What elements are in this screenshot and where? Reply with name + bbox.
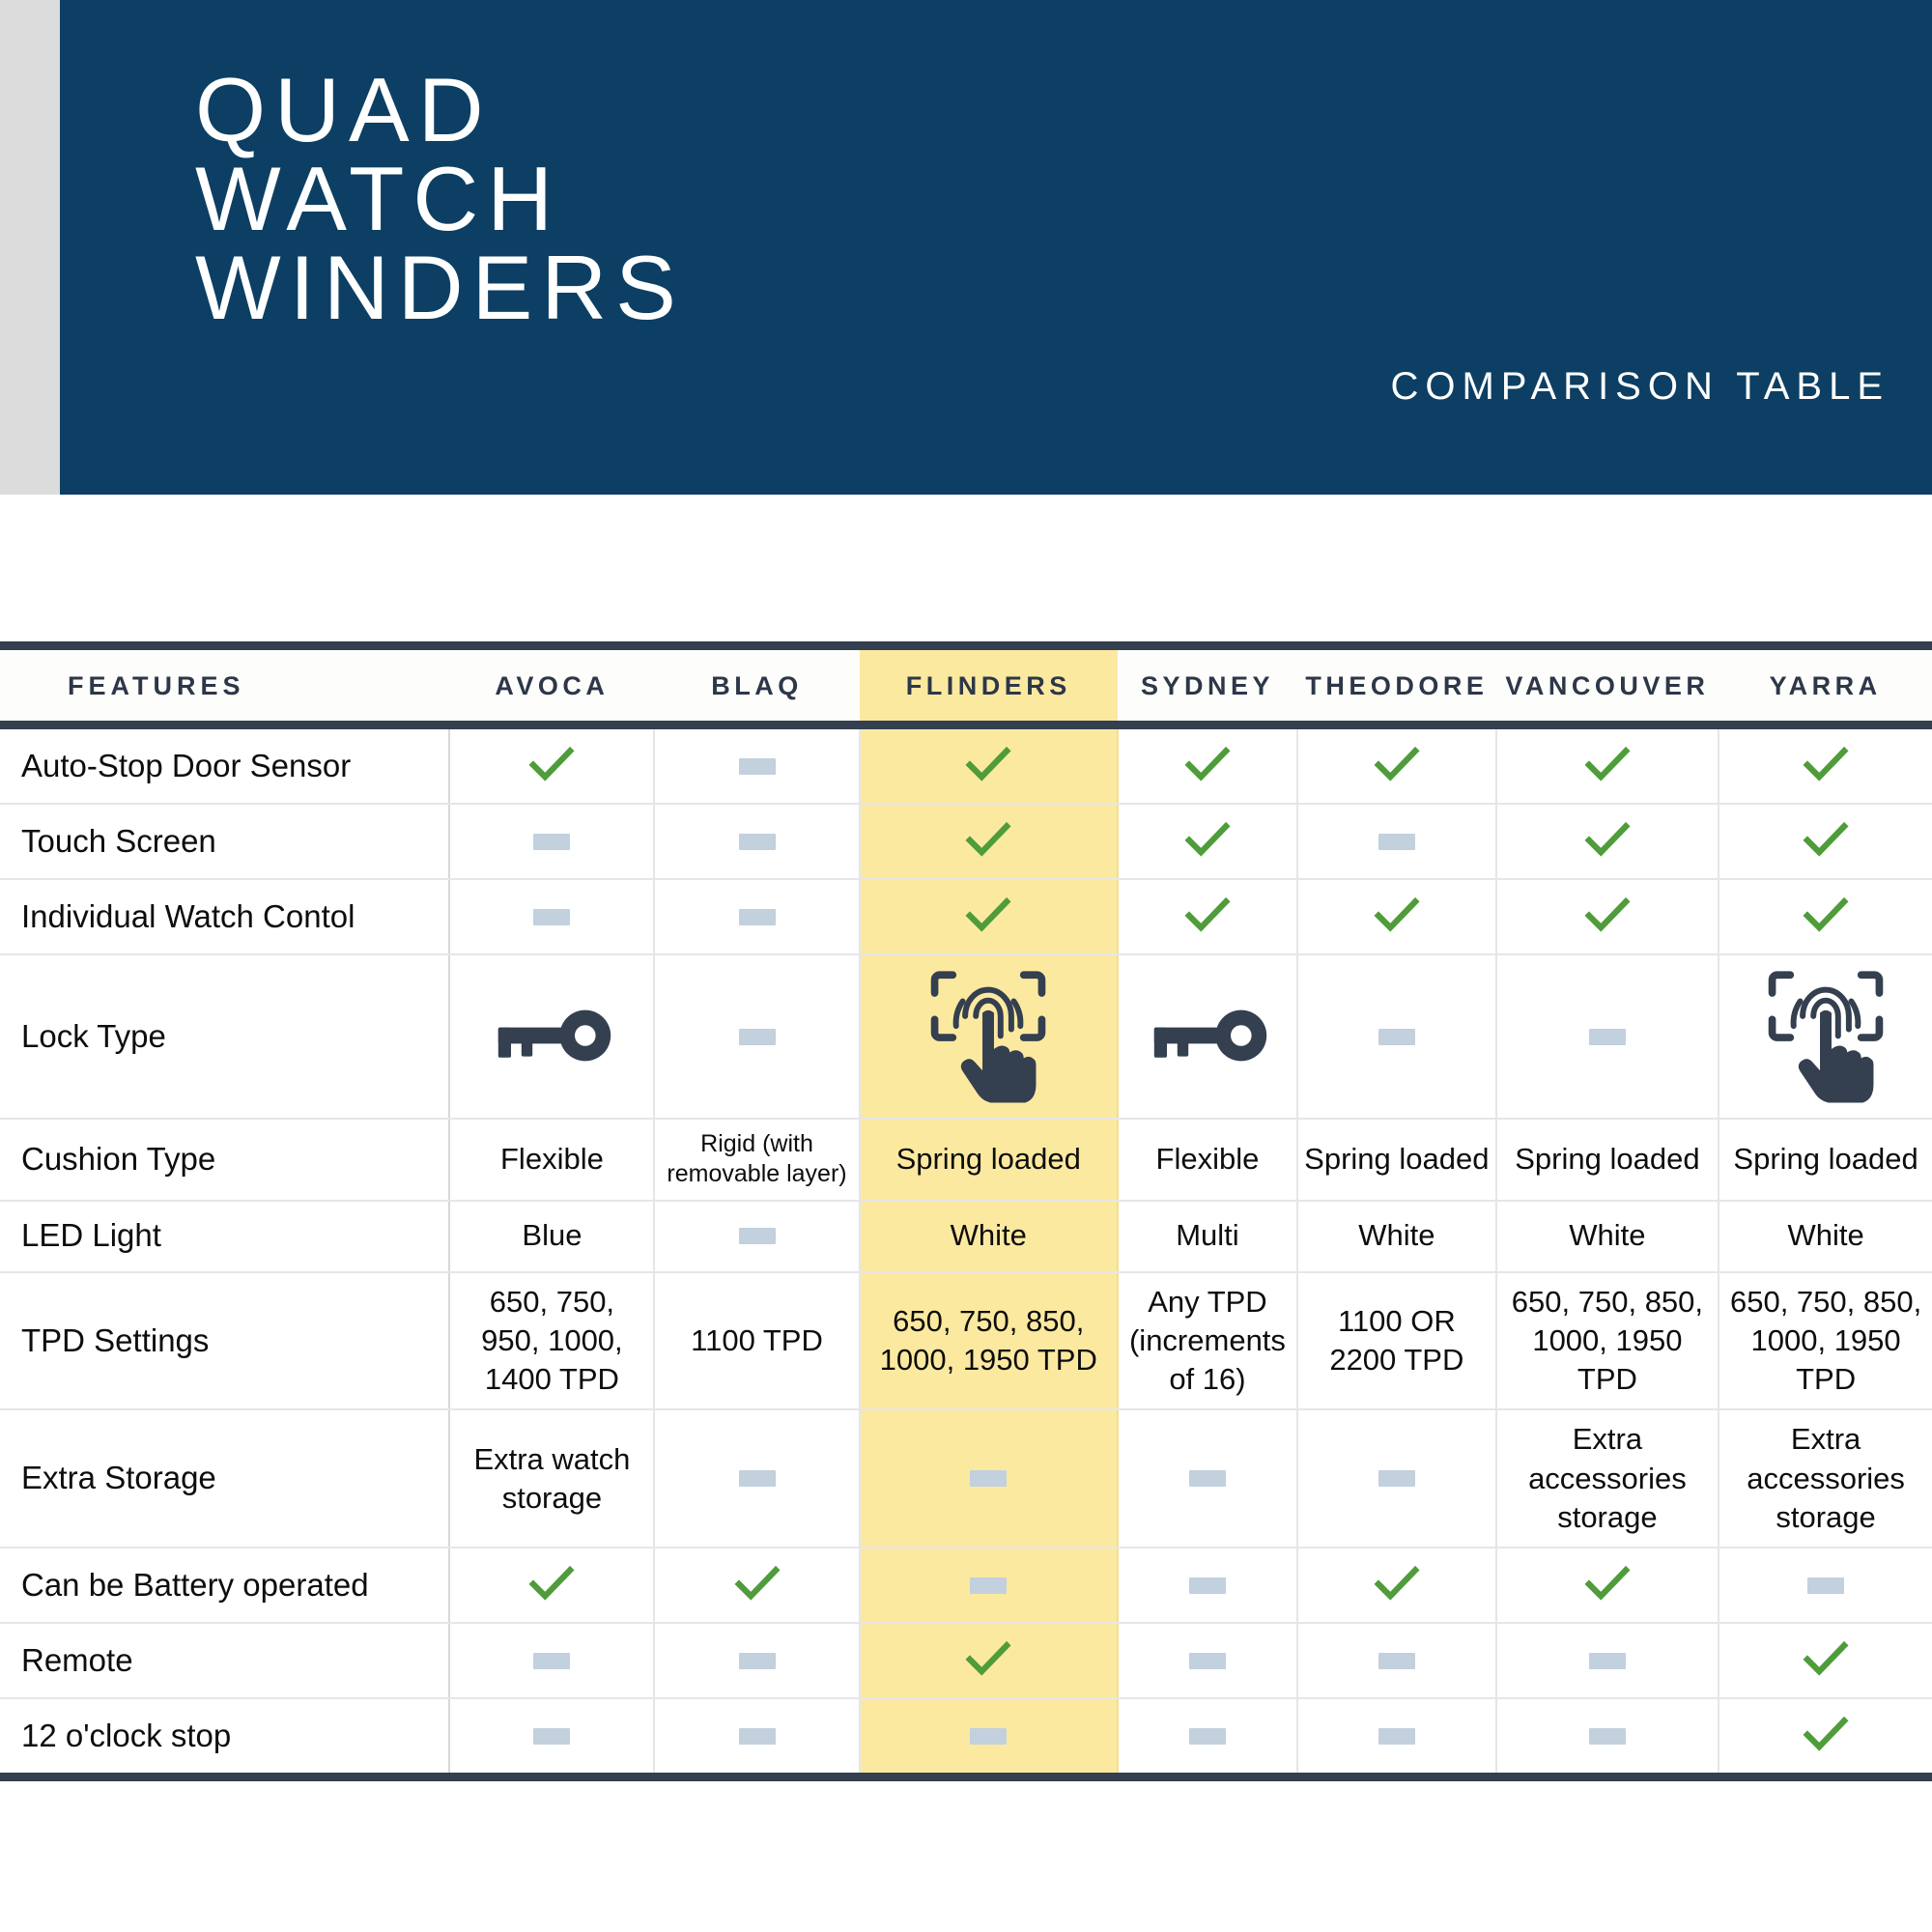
- comparison-table-wrap: FEATURES AVOCA BLAQ FLINDERS SYDNEY THEO…: [0, 641, 1932, 1773]
- cell-remote-vancouver[interactable]: [1496, 1623, 1719, 1698]
- column-header-vancouver[interactable]: VANCOUVER: [1496, 646, 1719, 725]
- cell-led-light-vancouver[interactable]: White: [1496, 1201, 1719, 1272]
- not-available-dash-icon: [1189, 1653, 1226, 1669]
- cell-can-be-battery-operated-sydney[interactable]: [1118, 1548, 1297, 1623]
- cell-text: White: [1358, 1218, 1435, 1252]
- cell-text: 650, 750, 850, 1000, 1950 TPD: [1512, 1285, 1703, 1397]
- fingerprint-scanner-icon: [1762, 965, 1889, 1108]
- cell-lock-type-yarra[interactable]: [1719, 954, 1932, 1119]
- feature-label-tpd-settings: TPD Settings: [0, 1272, 449, 1410]
- column-header-avoca[interactable]: AVOCA: [449, 646, 654, 725]
- check-icon: [961, 814, 1015, 868]
- fingerprint-scanner-icon: [924, 965, 1052, 1108]
- table-row: Can be Battery operated: [0, 1548, 1932, 1623]
- column-header-flinders[interactable]: FLINDERS: [860, 646, 1118, 725]
- cell-cushion-type-yarra[interactable]: Spring loaded: [1719, 1119, 1932, 1201]
- not-available-dash-icon: [533, 909, 570, 925]
- cell-extra-storage-blaq[interactable]: [654, 1409, 859, 1548]
- cell-led-light-flinders[interactable]: White: [860, 1201, 1118, 1272]
- check-icon: [1370, 739, 1424, 793]
- cell-remote-blaq[interactable]: [654, 1623, 859, 1698]
- table-row: Remote: [0, 1623, 1932, 1698]
- feature-label-touch-screen: Touch Screen: [0, 804, 449, 879]
- check-icon: [1799, 890, 1853, 944]
- table-row: 12 o'clock stop: [0, 1698, 1932, 1773]
- cell-touch-screen-yarra[interactable]: [1719, 804, 1932, 879]
- cell-touch-screen-flinders[interactable]: [860, 804, 1118, 879]
- cell-text: Spring loaded: [1515, 1142, 1699, 1176]
- cell-tpd-settings-theodore[interactable]: 1100 OR 2200 TPD: [1297, 1272, 1496, 1410]
- column-header-theodore[interactable]: THEODORE: [1297, 646, 1496, 725]
- feature-label-individual-watch-contol: Individual Watch Contol: [0, 879, 449, 954]
- feature-label-can-be-battery-operated: Can be Battery operated: [0, 1548, 449, 1623]
- check-icon: [1180, 814, 1235, 868]
- not-available-dash-icon: [739, 1728, 776, 1745]
- not-available-dash-icon: [1189, 1470, 1226, 1487]
- table-row: TPD Settings650, 750, 950, 1000, 1400 TP…: [0, 1272, 1932, 1410]
- not-available-dash-icon: [739, 834, 776, 850]
- table-head: FEATURES AVOCA BLAQ FLINDERS SYDNEY THEO…: [0, 646, 1932, 725]
- cell-lock-type-avoca[interactable]: [449, 954, 654, 1119]
- cell-text: Extra accessories storage: [1747, 1422, 1905, 1534]
- not-available-dash-icon: [739, 1470, 776, 1487]
- cell-text: Any TPD (increments of 16): [1129, 1285, 1286, 1397]
- cell-individual-watch-contol-theodore[interactable]: [1297, 879, 1496, 954]
- cell-cushion-type-vancouver[interactable]: Spring loaded: [1496, 1119, 1719, 1201]
- cell-can-be-battery-operated-flinders[interactable]: [860, 1548, 1118, 1623]
- check-icon: [1370, 1558, 1424, 1612]
- cell-lock-type-blaq[interactable]: [654, 954, 859, 1119]
- cell-led-light-blaq[interactable]: [654, 1201, 859, 1272]
- table-body: Auto-Stop Door SensorTouch ScreenIndivid…: [0, 725, 1932, 1774]
- not-available-dash-icon: [1589, 1029, 1626, 1045]
- cell-text: Spring loaded: [1304, 1142, 1489, 1176]
- comparison-page: QUAD WATCH WINDERS COMPARISON TABLE FEAT…: [0, 0, 1932, 1932]
- column-header-yarra[interactable]: YARRA: [1719, 646, 1932, 725]
- cell-auto-stop-door-sensor-blaq[interactable]: [654, 725, 859, 805]
- cell-lock-type-flinders[interactable]: [860, 954, 1118, 1119]
- cell-text: Multi: [1176, 1218, 1238, 1252]
- check-icon: [730, 1558, 784, 1612]
- table-row: LED LightBlueWhiteMultiWhiteWhiteWhite: [0, 1201, 1932, 1272]
- cell-can-be-battery-operated-yarra[interactable]: [1719, 1548, 1932, 1623]
- not-available-dash-icon: [739, 1228, 776, 1244]
- cell-auto-stop-door-sensor-theodore[interactable]: [1297, 725, 1496, 805]
- cell-lock-type-theodore[interactable]: [1297, 954, 1496, 1119]
- cell-remote-sydney[interactable]: [1118, 1623, 1297, 1698]
- comparison-table: FEATURES AVOCA BLAQ FLINDERS SYDNEY THEO…: [0, 641, 1932, 1773]
- feature-label-remote: Remote: [0, 1623, 449, 1698]
- cell-tpd-settings-blaq[interactable]: 1100 TPD: [654, 1272, 859, 1410]
- not-available-dash-icon: [1378, 1728, 1415, 1745]
- check-icon: [1580, 890, 1634, 944]
- check-icon: [525, 1558, 579, 1612]
- not-available-dash-icon: [970, 1728, 1007, 1745]
- check-icon: [1799, 1709, 1853, 1763]
- cell-text: White: [951, 1218, 1027, 1252]
- cell-individual-watch-contol-flinders[interactable]: [860, 879, 1118, 954]
- cell-cushion-type-avoca[interactable]: Flexible: [449, 1119, 654, 1201]
- check-icon: [961, 1634, 1015, 1688]
- cell-lock-type-sydney[interactable]: [1118, 954, 1297, 1119]
- cell-can-be-battery-operated-theodore[interactable]: [1297, 1548, 1496, 1623]
- check-icon: [1580, 739, 1634, 793]
- not-available-dash-icon: [970, 1470, 1007, 1487]
- cell-touch-screen-blaq[interactable]: [654, 804, 859, 879]
- cell-individual-watch-contol-avoca[interactable]: [449, 879, 654, 954]
- cell-touch-screen-avoca[interactable]: [449, 804, 654, 879]
- not-available-dash-icon: [739, 909, 776, 925]
- cell-remote-flinders[interactable]: [860, 1623, 1118, 1698]
- cell-can-be-battery-operated-vancouver[interactable]: [1496, 1548, 1719, 1623]
- cell-text: Extra accessories storage: [1528, 1422, 1687, 1534]
- table-row: Touch Screen: [0, 804, 1932, 879]
- cell-12-o-clock-stop-flinders[interactable]: [860, 1698, 1118, 1773]
- cell-text: 650, 750, 850, 1000, 1950 TPD: [880, 1304, 1097, 1377]
- check-icon: [961, 890, 1015, 944]
- cell-text: Spring loaded: [1733, 1142, 1918, 1176]
- feature-label-lock-type: Lock Type: [0, 954, 449, 1119]
- cell-cushion-type-theodore[interactable]: Spring loaded: [1297, 1119, 1496, 1201]
- page-title: QUAD WATCH WINDERS: [195, 66, 685, 332]
- cell-text: 1100 TPD: [691, 1323, 823, 1357]
- feature-label-auto-stop-door-sensor: Auto-Stop Door Sensor: [0, 725, 449, 805]
- column-header-sydney[interactable]: SYDNEY: [1118, 646, 1297, 725]
- cell-12-o-clock-stop-sydney[interactable]: [1118, 1698, 1297, 1773]
- not-available-dash-icon: [533, 1728, 570, 1745]
- check-icon: [1180, 739, 1235, 793]
- cell-cushion-type-sydney[interactable]: Flexible: [1118, 1119, 1297, 1201]
- not-available-dash-icon: [1589, 1653, 1626, 1669]
- cell-text: Rigid (with removable layer): [667, 1130, 846, 1187]
- not-available-dash-icon: [1378, 1653, 1415, 1669]
- check-icon: [961, 739, 1015, 793]
- cell-text: Flexible: [1156, 1142, 1260, 1176]
- cell-extra-storage-flinders[interactable]: [860, 1409, 1118, 1548]
- cell-can-be-battery-operated-avoca[interactable]: [449, 1548, 654, 1623]
- cell-auto-stop-door-sensor-avoca[interactable]: [449, 725, 654, 805]
- cell-tpd-settings-avoca[interactable]: 650, 750, 950, 1000, 1400 TPD: [449, 1272, 654, 1410]
- table-row: Cushion TypeFlexibleRigid (with removabl…: [0, 1119, 1932, 1201]
- cell-individual-watch-contol-sydney[interactable]: [1118, 879, 1297, 954]
- cell-extra-storage-sydney[interactable]: [1118, 1409, 1297, 1548]
- check-icon: [1580, 814, 1634, 868]
- cell-extra-storage-yarra[interactable]: Extra accessories storage: [1719, 1409, 1932, 1548]
- table-row: Lock Type: [0, 954, 1932, 1119]
- not-available-dash-icon: [739, 1653, 776, 1669]
- cell-remote-theodore[interactable]: [1297, 1623, 1496, 1698]
- cell-text: Flexible: [500, 1142, 604, 1176]
- cell-led-light-sydney[interactable]: Multi: [1118, 1201, 1297, 1272]
- column-header-blaq[interactable]: BLAQ: [654, 646, 859, 725]
- cell-extra-storage-vancouver[interactable]: Extra accessories storage: [1496, 1409, 1719, 1548]
- cell-text: 1100 OR 2200 TPD: [1329, 1304, 1463, 1377]
- cell-12-o-clock-stop-avoca[interactable]: [449, 1698, 654, 1773]
- cell-touch-screen-theodore[interactable]: [1297, 804, 1496, 879]
- cell-led-light-theodore[interactable]: White: [1297, 1201, 1496, 1272]
- cell-led-light-yarra[interactable]: White: [1719, 1201, 1932, 1272]
- cell-tpd-settings-flinders[interactable]: 650, 750, 850, 1000, 1950 TPD: [860, 1272, 1118, 1410]
- cell-individual-watch-contol-yarra[interactable]: [1719, 879, 1932, 954]
- cell-cushion-type-flinders[interactable]: Spring loaded: [860, 1119, 1118, 1201]
- cell-can-be-battery-operated-blaq[interactable]: [654, 1548, 859, 1623]
- check-icon: [1180, 890, 1235, 944]
- cell-auto-stop-door-sensor-yarra[interactable]: [1719, 725, 1932, 805]
- check-icon: [1799, 814, 1853, 868]
- cell-remote-yarra[interactable]: [1719, 1623, 1932, 1698]
- cell-extra-storage-theodore[interactable]: [1297, 1409, 1496, 1548]
- feature-label-extra-storage: Extra Storage: [0, 1409, 449, 1548]
- cell-12-o-clock-stop-blaq[interactable]: [654, 1698, 859, 1773]
- cell-led-light-avoca[interactable]: Blue: [449, 1201, 654, 1272]
- cell-auto-stop-door-sensor-sydney[interactable]: [1118, 725, 1297, 805]
- cell-lock-type-vancouver[interactable]: [1496, 954, 1719, 1119]
- cell-text: White: [1569, 1218, 1645, 1252]
- not-available-dash-icon: [970, 1577, 1007, 1594]
- check-icon: [1799, 739, 1853, 793]
- table-bottom-rule: [0, 1773, 1932, 1781]
- cell-12-o-clock-stop-theodore[interactable]: [1297, 1698, 1496, 1773]
- cell-12-o-clock-stop-vancouver[interactable]: [1496, 1698, 1719, 1773]
- key-icon: [488, 1007, 615, 1066]
- cell-text: 650, 750, 850, 1000, 1950 TPD: [1730, 1285, 1921, 1397]
- cell-text: White: [1787, 1218, 1863, 1252]
- cell-auto-stop-door-sensor-flinders[interactable]: [860, 725, 1118, 805]
- table-row: Individual Watch Contol: [0, 879, 1932, 954]
- not-available-dash-icon: [739, 758, 776, 775]
- cell-text: Extra watch storage: [473, 1442, 630, 1515]
- not-available-dash-icon: [1807, 1577, 1844, 1594]
- cell-tpd-settings-vancouver[interactable]: 650, 750, 850, 1000, 1950 TPD: [1496, 1272, 1719, 1410]
- banner-subtitle: COMPARISON TABLE: [1390, 365, 1889, 409]
- feature-label-led-light: LED Light: [0, 1201, 449, 1272]
- cell-remote-avoca[interactable]: [449, 1623, 654, 1698]
- features-header: FEATURES: [0, 646, 449, 725]
- banner-side-strip: [0, 0, 60, 495]
- not-available-dash-icon: [1378, 834, 1415, 850]
- check-icon: [525, 739, 579, 793]
- cell-text: 650, 750, 950, 1000, 1400 TPD: [481, 1285, 623, 1397]
- cell-text: Blue: [522, 1218, 582, 1252]
- feature-label-12-o-clock-stop: 12 o'clock stop: [0, 1698, 449, 1773]
- check-icon: [1370, 890, 1424, 944]
- table-row: Extra StorageExtra watch storageExtra ac…: [0, 1409, 1932, 1548]
- cell-individual-watch-contol-vancouver[interactable]: [1496, 879, 1719, 954]
- cell-12-o-clock-stop-yarra[interactable]: [1719, 1698, 1932, 1773]
- table-row: Auto-Stop Door Sensor: [0, 725, 1932, 805]
- not-available-dash-icon: [1378, 1470, 1415, 1487]
- not-available-dash-icon: [1189, 1577, 1226, 1594]
- cell-tpd-settings-yarra[interactable]: 650, 750, 850, 1000, 1950 TPD: [1719, 1272, 1932, 1410]
- feature-label-cushion-type: Cushion Type: [0, 1119, 449, 1201]
- header-row: FEATURES AVOCA BLAQ FLINDERS SYDNEY THEO…: [0, 646, 1932, 725]
- cell-touch-screen-vancouver[interactable]: [1496, 804, 1719, 879]
- cell-text: Spring loaded: [896, 1142, 1081, 1176]
- not-available-dash-icon: [533, 834, 570, 850]
- cell-cushion-type-blaq[interactable]: Rigid (with removable layer): [654, 1119, 859, 1201]
- not-available-dash-icon: [533, 1653, 570, 1669]
- not-available-dash-icon: [1189, 1728, 1226, 1745]
- not-available-dash-icon: [1589, 1728, 1626, 1745]
- page-banner: QUAD WATCH WINDERS COMPARISON TABLE: [60, 0, 1932, 495]
- key-icon: [1144, 1007, 1271, 1066]
- cell-individual-watch-contol-blaq[interactable]: [654, 879, 859, 954]
- cell-tpd-settings-sydney[interactable]: Any TPD (increments of 16): [1118, 1272, 1297, 1410]
- not-available-dash-icon: [739, 1029, 776, 1045]
- cell-auto-stop-door-sensor-vancouver[interactable]: [1496, 725, 1719, 805]
- not-available-dash-icon: [1378, 1029, 1415, 1045]
- cell-extra-storage-avoca[interactable]: Extra watch storage: [449, 1409, 654, 1548]
- check-icon: [1580, 1558, 1634, 1612]
- check-icon: [1799, 1634, 1853, 1688]
- cell-touch-screen-sydney[interactable]: [1118, 804, 1297, 879]
